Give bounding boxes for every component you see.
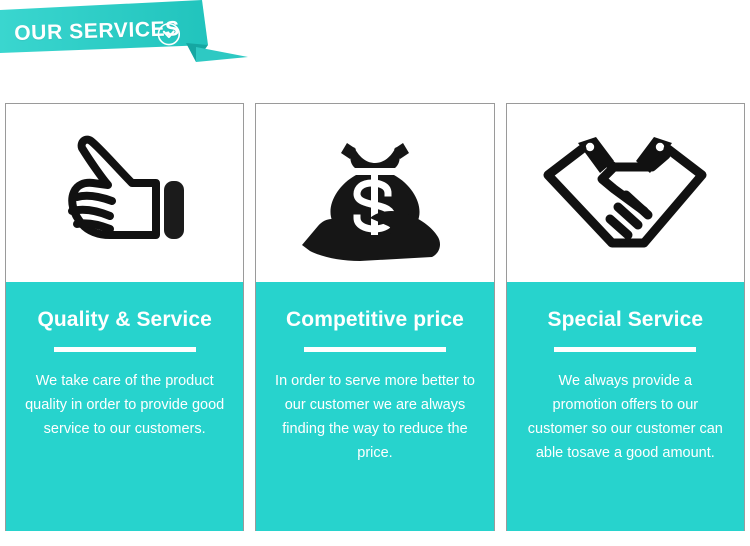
service-card[interactable]: Special Service We always provide a prom… (506, 103, 745, 531)
title-divider (304, 347, 446, 352)
services-card-row: Quality & Service We take care of the pr… (5, 103, 745, 531)
thumbs-up-icon (60, 131, 190, 256)
chevron-down-circle-icon[interactable] (156, 21, 182, 47)
our-services-banner: OUR SERVICES (0, 0, 260, 80)
card-title: Quality & Service (20, 308, 229, 331)
card-body: Competitive price In order to serve more… (256, 282, 493, 531)
service-card[interactable]: Competitive price In order to serve more… (255, 103, 494, 531)
handshake-icon (540, 133, 710, 253)
card-icon-area (507, 104, 744, 282)
money-bag-in-hand-icon (300, 123, 450, 263)
card-description: In order to serve more better to our cus… (270, 369, 479, 465)
card-body: Special Service We always provide a prom… (507, 282, 744, 531)
card-icon-area (6, 104, 243, 282)
card-title: Competitive price (270, 308, 479, 331)
card-description: We always provide a promotion offers to … (521, 369, 730, 465)
title-divider (554, 347, 696, 352)
title-divider (54, 347, 196, 352)
service-card[interactable]: Quality & Service We take care of the pr… (5, 103, 244, 531)
card-title: Special Service (521, 308, 730, 331)
card-icon-area (256, 104, 493, 282)
card-body: Quality & Service We take care of the pr… (6, 282, 243, 531)
card-description: We take care of the product quality in o… (20, 369, 229, 441)
